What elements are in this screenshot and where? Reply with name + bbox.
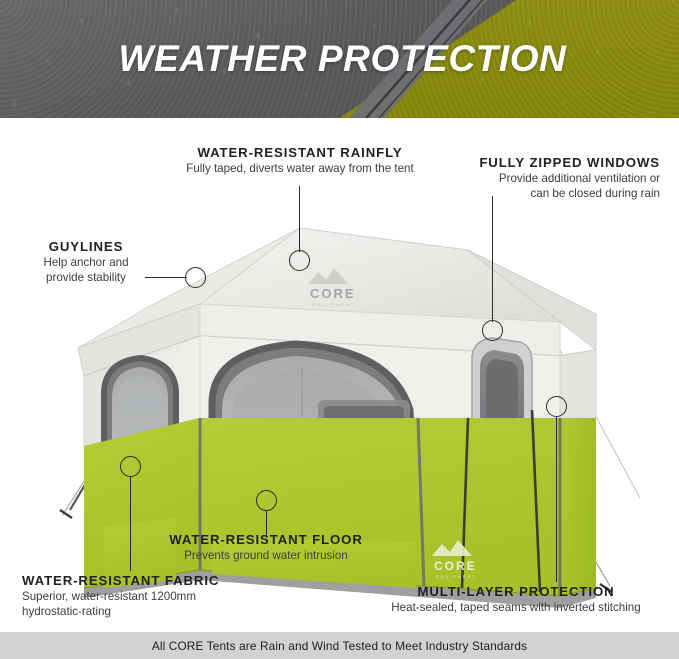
callout-subtitle-line1: Provide additional ventilation or xyxy=(370,172,660,187)
callout-subtitle-line2: hydrostatic-rating xyxy=(22,605,282,620)
callout-subtitle: Prevents ground water intrusion xyxy=(146,549,386,564)
callout-subtitle: Heat-sealed, taped seams with inverted s… xyxy=(355,601,677,616)
footer-bar: All CORE Tents are Rain and Wind Tested … xyxy=(0,632,679,659)
callout-water-resistant-fabric: WATER-RESISTANT FABRIC Superior, water-r… xyxy=(22,572,282,619)
callout-subtitle-line2: can be closed during rain xyxy=(370,187,660,202)
header-banner: WEATHER PROTECTION xyxy=(0,0,679,118)
page-title: WEATHER PROTECTION xyxy=(0,0,679,118)
leader-line-windows xyxy=(492,196,493,322)
callout-water-resistant-floor: WATER-RESISTANT FLOOR Prevents ground wa… xyxy=(146,531,386,564)
callout-subtitle-line2: provide stability xyxy=(12,271,160,286)
infographic-page: WEATHER PROTECTION xyxy=(0,0,679,659)
leader-line-multilayer xyxy=(556,417,557,582)
callout-subtitle-line1: Help anchor and xyxy=(12,256,160,271)
callout-title: WATER-RESISTANT FLOOR xyxy=(146,531,386,548)
callout-title: FULLY ZIPPED WINDOWS xyxy=(370,154,660,171)
leader-line-fabric xyxy=(130,477,131,571)
svg-text:CORE: CORE xyxy=(434,559,477,573)
marker-multilayer xyxy=(546,396,567,417)
callout-guylines: GUYLINES Help anchor and provide stabili… xyxy=(12,238,160,285)
callout-title: WATER-RESISTANT FABRIC xyxy=(22,572,282,589)
marker-windows xyxy=(482,320,503,341)
svg-text:EQUIPMENT: EQUIPMENT xyxy=(312,302,356,307)
svg-text:CORE: CORE xyxy=(310,286,356,301)
callout-multi-layer-protection: MULTI-LAYER PROTECTION Heat-sealed, tape… xyxy=(355,583,677,616)
leader-line-rainfly xyxy=(299,186,300,252)
marker-floor xyxy=(256,490,277,511)
marker-rainfly xyxy=(289,250,310,271)
callout-subtitle-line1: Superior, water-resistant 1200mm xyxy=(22,590,282,605)
callout-fully-zipped-windows: FULLY ZIPPED WINDOWS Provide additional … xyxy=(370,154,660,201)
callout-title: GUYLINES xyxy=(12,238,160,255)
footer-text: All CORE Tents are Rain and Wind Tested … xyxy=(152,639,527,653)
marker-guylines xyxy=(185,267,206,288)
marker-fabric xyxy=(120,456,141,477)
svg-text:EQUIPMENT: EQUIPMENT xyxy=(436,575,477,579)
callout-title: MULTI-LAYER PROTECTION xyxy=(355,583,677,600)
